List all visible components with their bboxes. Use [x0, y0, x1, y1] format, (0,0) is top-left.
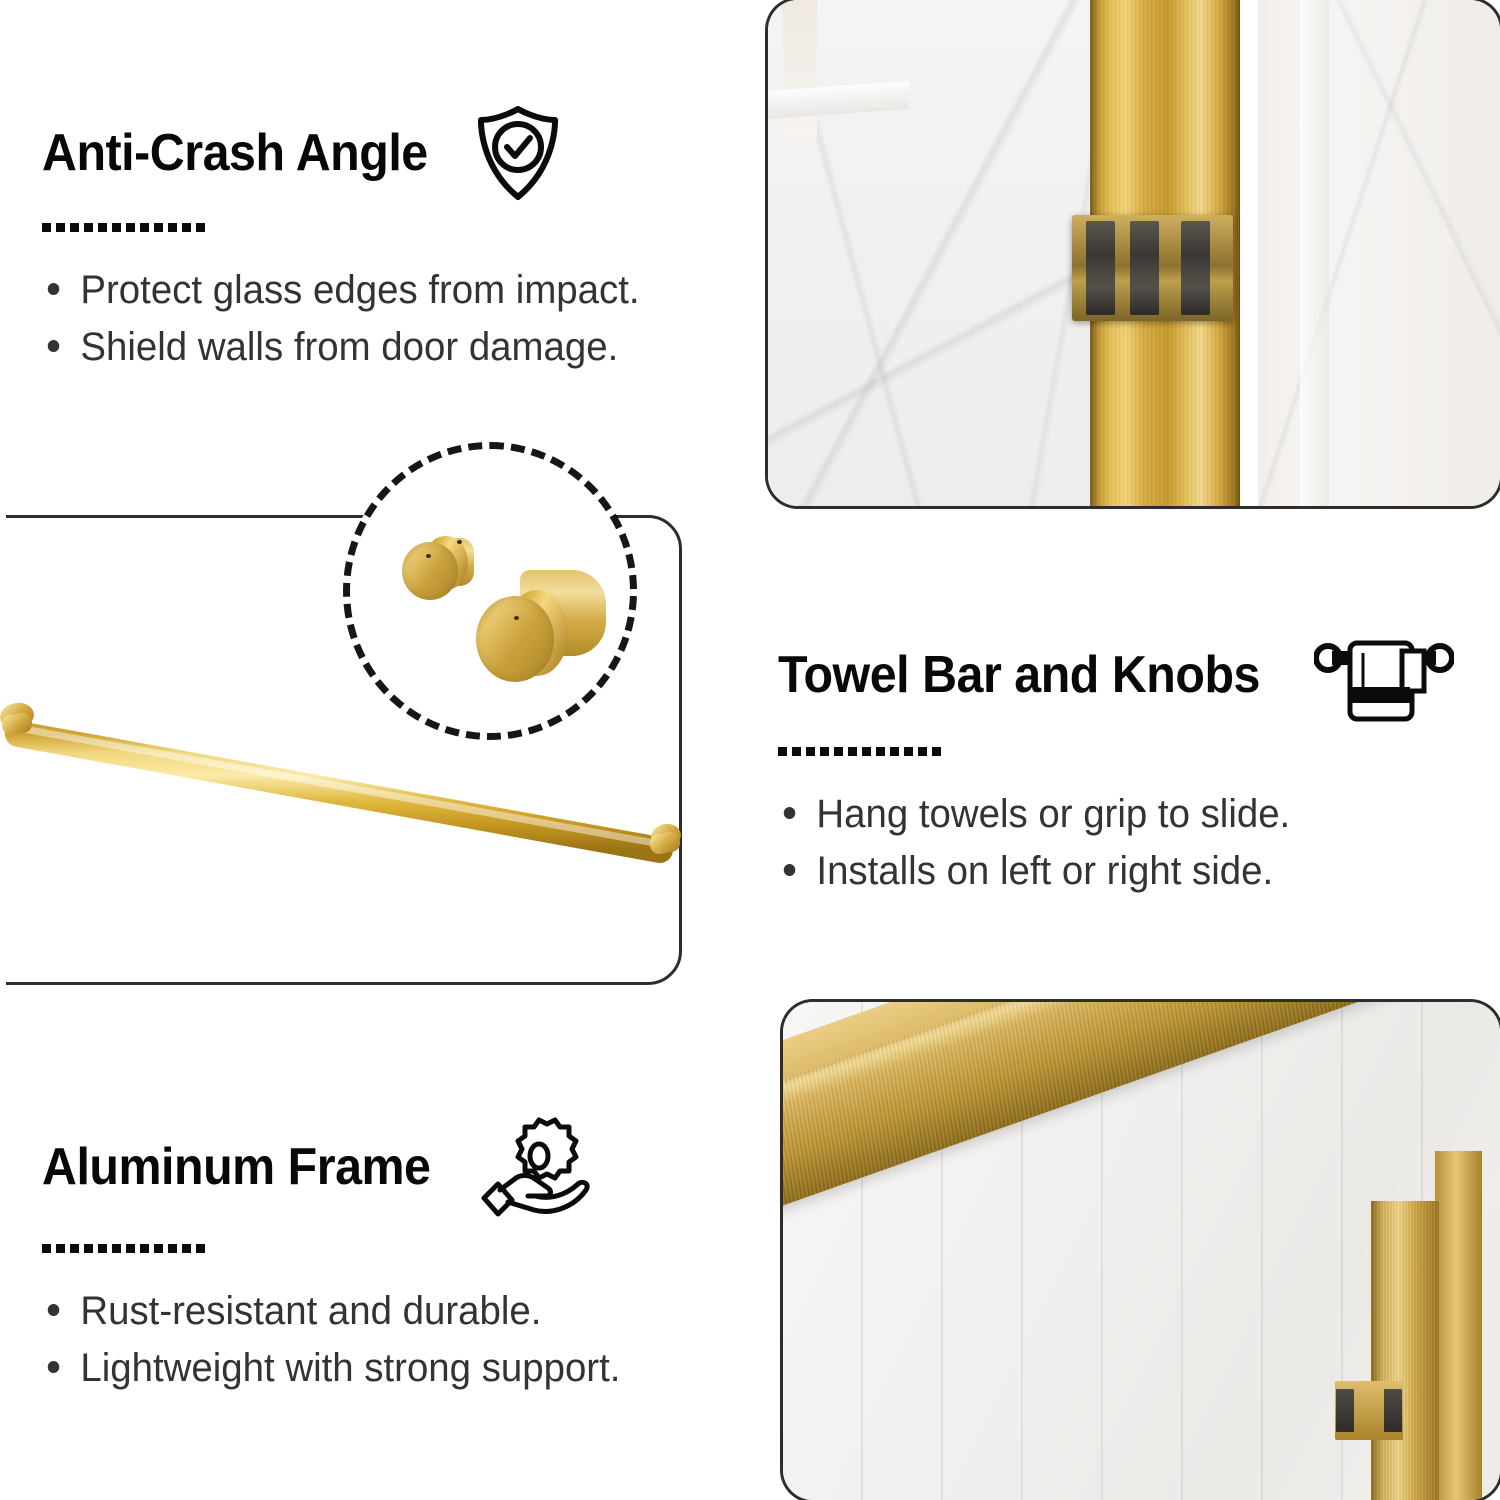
infographic-page: Anti-Crash Angle Protect glass edges fro…	[0, 0, 1500, 1500]
bullet-dot	[48, 340, 60, 352]
bullet-text: Protect glass edges from impact.	[80, 262, 639, 319]
bullet-dot	[48, 1361, 60, 1373]
feature-title: Aluminum Frame	[42, 1140, 430, 1195]
list-item: Protect glass edges from impact.	[42, 262, 714, 319]
list-item: Installs on left or right side.	[778, 843, 1450, 900]
aluminum-top-rail-photo	[783, 1002, 1500, 1500]
feature-heading-row: Towel Bar and Knobs	[778, 625, 1478, 725]
feature-bullet-list: Protect glass edges from impact. Shield …	[42, 262, 742, 376]
gold-frame-hinge-photo	[768, 0, 1500, 506]
bullet-dot	[48, 1304, 60, 1316]
hinge-bracket	[1072, 215, 1233, 321]
feature-bullet-list: Rust-resistant and durable. Lightweight …	[42, 1283, 762, 1397]
divider-dots	[42, 223, 742, 232]
gold-post-near	[1371, 1201, 1439, 1500]
feature-heading-row: Aluminum Frame	[42, 1112, 762, 1222]
gear-in-hand-icon	[478, 1112, 598, 1222]
feature-anti-crash-angle: Anti-Crash Angle Protect glass edges fro…	[42, 105, 742, 376]
shield-check-icon	[475, 105, 561, 201]
list-item: Rust-resistant and durable.	[42, 1283, 733, 1340]
towel-rack-icon	[1314, 625, 1454, 725]
towel-bar	[0, 690, 690, 880]
feature-title: Towel Bar and Knobs	[778, 648, 1260, 703]
divider-dots	[778, 747, 1478, 756]
frame-clip	[1335, 1381, 1403, 1441]
gold-post-far	[1435, 1151, 1482, 1500]
bullet-text: Hang towels or grip to slide.	[816, 786, 1290, 843]
marble-wall-right	[1258, 0, 1500, 506]
feature-towel-bar-and-knobs: Towel Bar and Knobs Hang towels o	[778, 625, 1478, 900]
bullet-text: Shield walls from door damage.	[80, 319, 618, 376]
bullet-text: Lightweight with strong support.	[80, 1340, 620, 1397]
list-item: Shield walls from door damage.	[42, 319, 714, 376]
list-item: Hang towels or grip to slide.	[778, 786, 1450, 843]
bullet-text: Installs on left or right side.	[816, 843, 1273, 900]
bullet-dot	[48, 283, 60, 295]
large-knob	[474, 564, 624, 692]
feature-bullet-list: Hang towels or grip to slide. Installs o…	[778, 786, 1478, 900]
bullet-dot	[784, 807, 796, 819]
bullet-text: Rust-resistant and durable.	[80, 1283, 541, 1340]
divider-dots	[42, 1244, 762, 1253]
feature-heading-row: Anti-Crash Angle	[42, 105, 742, 201]
feature-aluminum-frame: Aluminum Frame Rust-resistant and durabl…	[42, 1112, 762, 1397]
bullet-dot	[784, 864, 796, 876]
feature-title: Anti-Crash Angle	[42, 126, 428, 181]
list-item: Lightweight with strong support.	[42, 1340, 733, 1397]
